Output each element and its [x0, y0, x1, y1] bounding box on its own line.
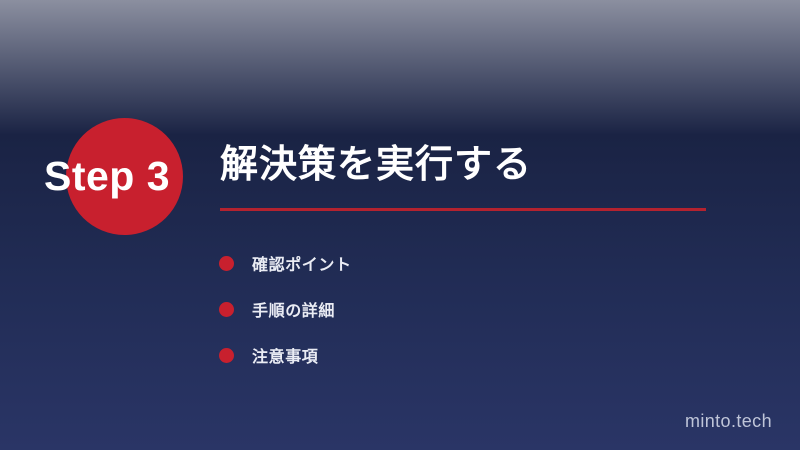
presentation-slide: Step 3 解決策を実行する 確認ポイント 手順の詳細 注意事項 minto.…	[0, 0, 800, 450]
step-badge-label: Step 3	[44, 150, 204, 202]
list-item-label: 注意事項	[252, 343, 318, 367]
list-item-label: 確認ポイント	[252, 251, 352, 275]
bullet-list: 確認ポイント 手順の詳細 注意事項	[219, 240, 699, 378]
watermark-brand: minto.tech	[685, 411, 772, 432]
bullet-dot-icon	[219, 256, 234, 271]
list-item-label: 手順の詳細	[252, 297, 335, 321]
title-divider	[220, 208, 706, 211]
bullet-dot-icon	[219, 348, 234, 363]
list-item: 手順の詳細	[219, 286, 699, 332]
list-item: 注意事項	[219, 332, 699, 378]
bullet-dot-icon	[219, 302, 234, 317]
list-item: 確認ポイント	[219, 240, 699, 286]
title-block: 解決策を実行する	[220, 140, 740, 211]
slide-title: 解決策を実行する	[220, 140, 740, 190]
